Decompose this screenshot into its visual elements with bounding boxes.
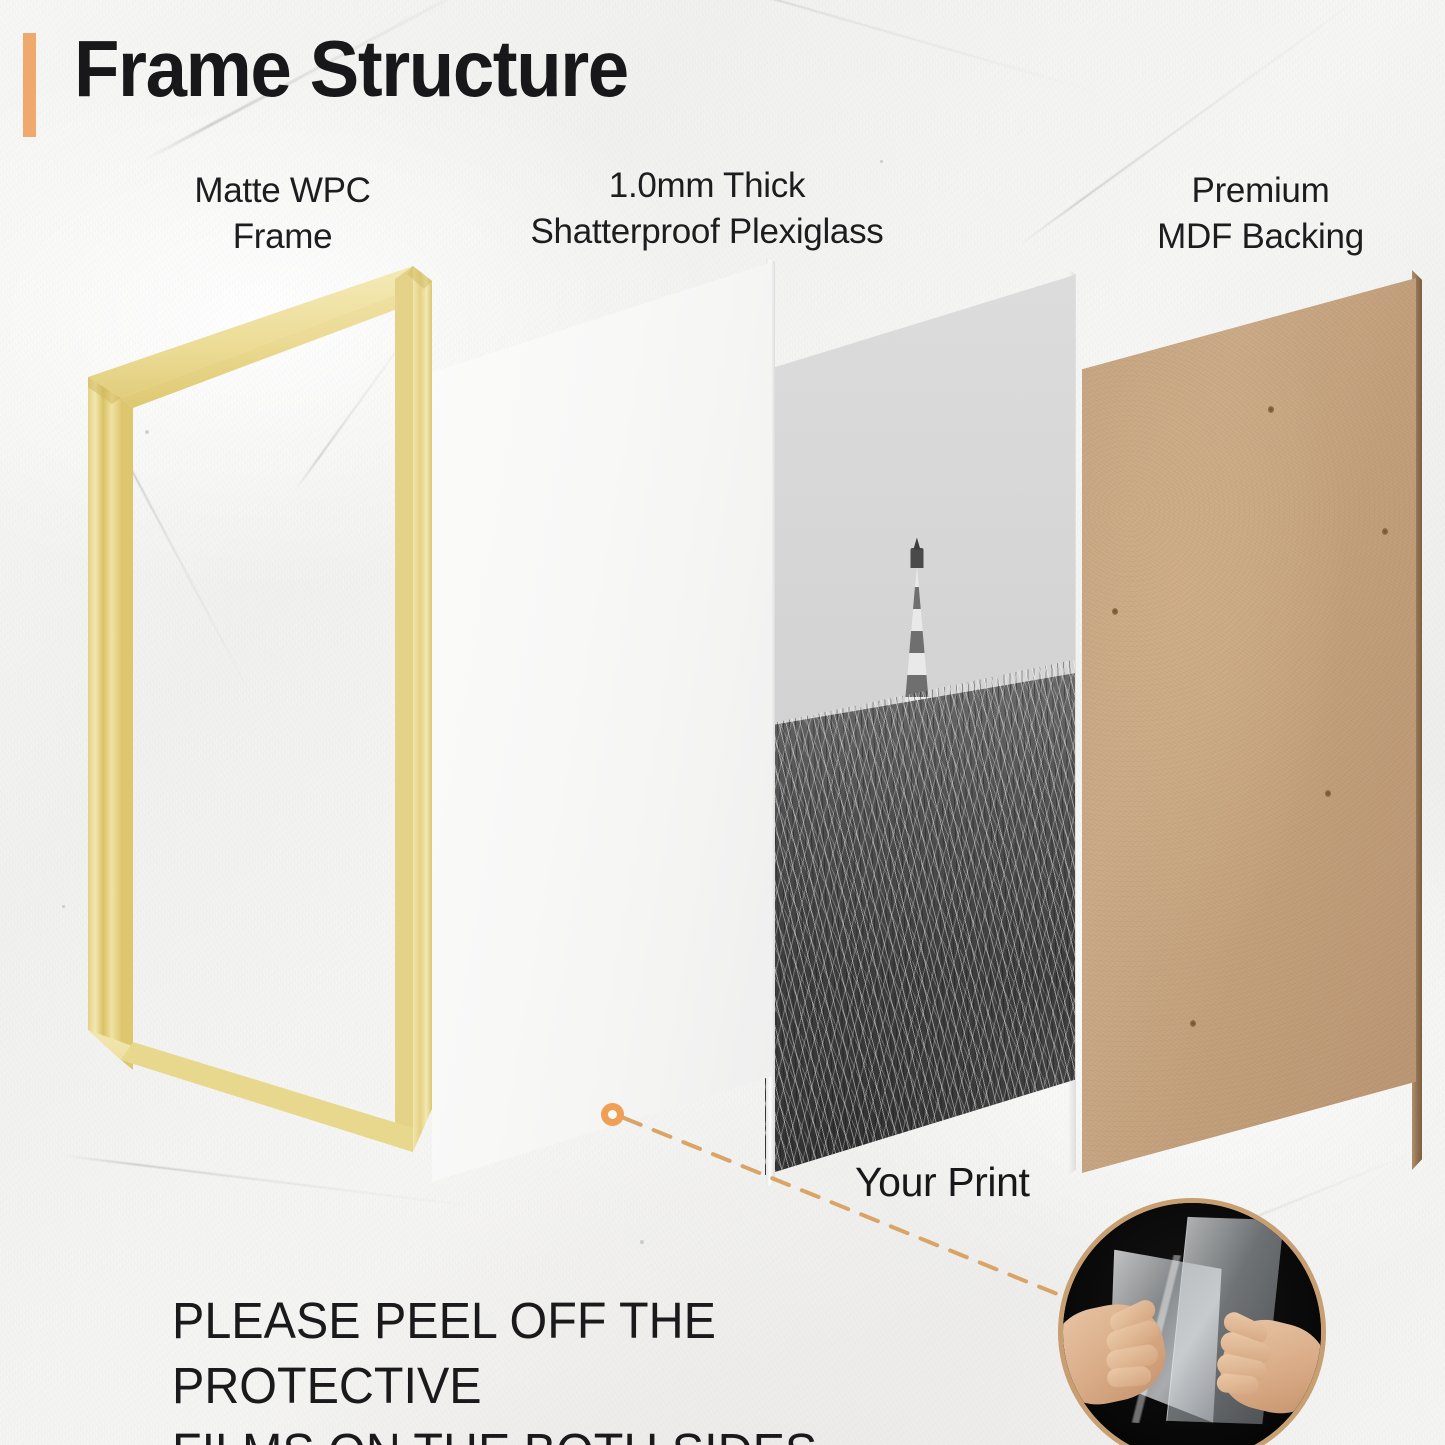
infographic-canvas: Frame Structure Matte WPC Frame 1.0mm Th… [0, 0, 1445, 1445]
callout-leader-line [624, 1118, 1072, 1300]
frame-rail-left-face [121, 398, 133, 1070]
peel-film-inset-photo [1058, 1198, 1326, 1445]
callout-dot-marker [601, 1103, 624, 1126]
callout-label-your-print: Your Print [855, 1159, 1030, 1206]
frame-rail-right [413, 266, 432, 1152]
frame-rail-right-face [395, 266, 413, 1152]
frame-rail-top [88, 266, 432, 398]
frame-rail-bottom-inner [121, 1042, 413, 1152]
frame-rail-left [88, 377, 121, 1060]
notice-text: PLEASE PEEL OFF THE PROTECTIVE FILMS ON … [172, 1288, 989, 1445]
frame-rail-top-inner [121, 281, 432, 408]
